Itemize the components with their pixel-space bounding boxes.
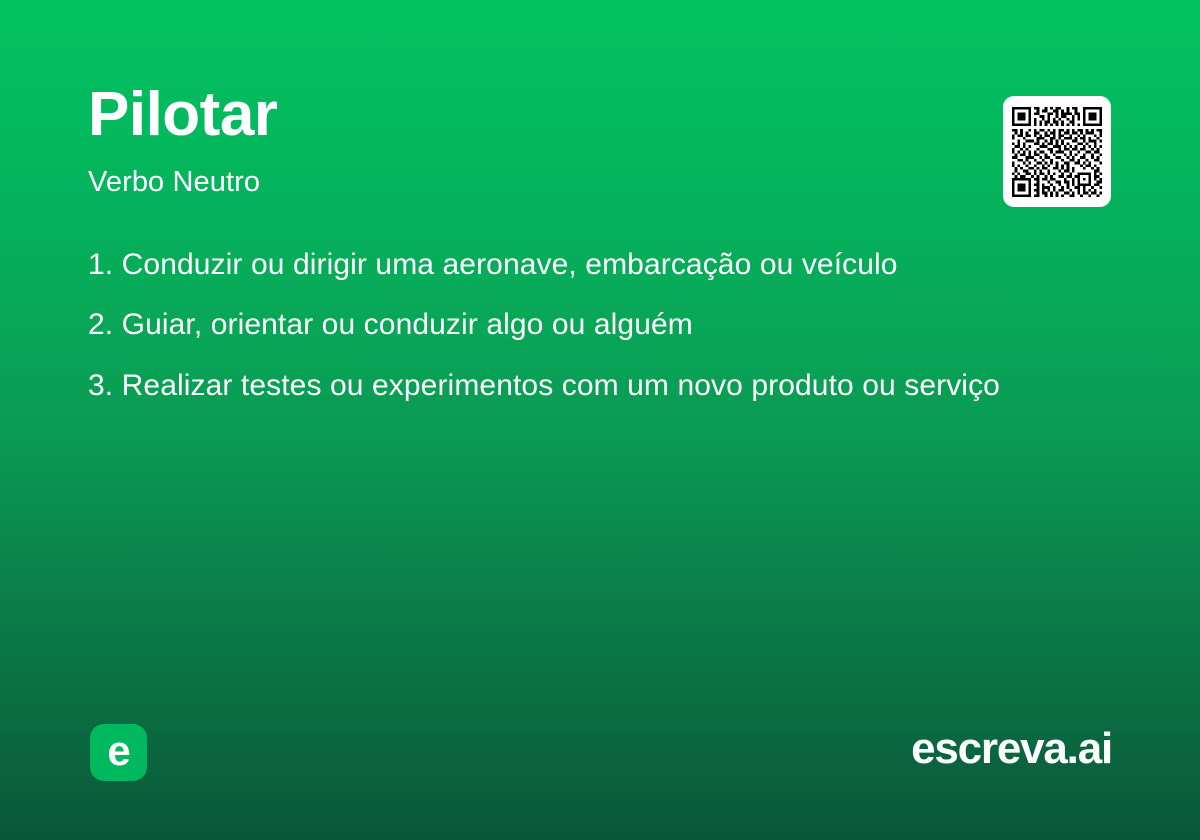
word-class-label: Verbo Neutro [88, 166, 948, 199]
qr-code-card[interactable] [1003, 96, 1111, 207]
brand-wordmark[interactable]: escreva.ai [911, 726, 1112, 772]
list-item: 1. Conduzir ou dirigir uma aeronave, emb… [88, 246, 1038, 284]
escreva-logo-icon[interactable]: e [90, 724, 147, 781]
definition-list: 1. Conduzir ou dirigir uma aeronave, emb… [88, 246, 1038, 405]
page-title: Pilotar [88, 84, 948, 146]
card-header: Pilotar Verbo Neutro [88, 84, 948, 199]
logo-letter: e [107, 730, 129, 772]
definition-card: Pilotar Verbo Neutro [0, 0, 1200, 840]
qr-code-icon [1012, 107, 1102, 197]
list-item: 2. Guiar, orientar ou conduzir algo ou a… [88, 306, 1038, 344]
list-item: 3. Realizar testes ou experimentos com u… [88, 367, 1038, 405]
